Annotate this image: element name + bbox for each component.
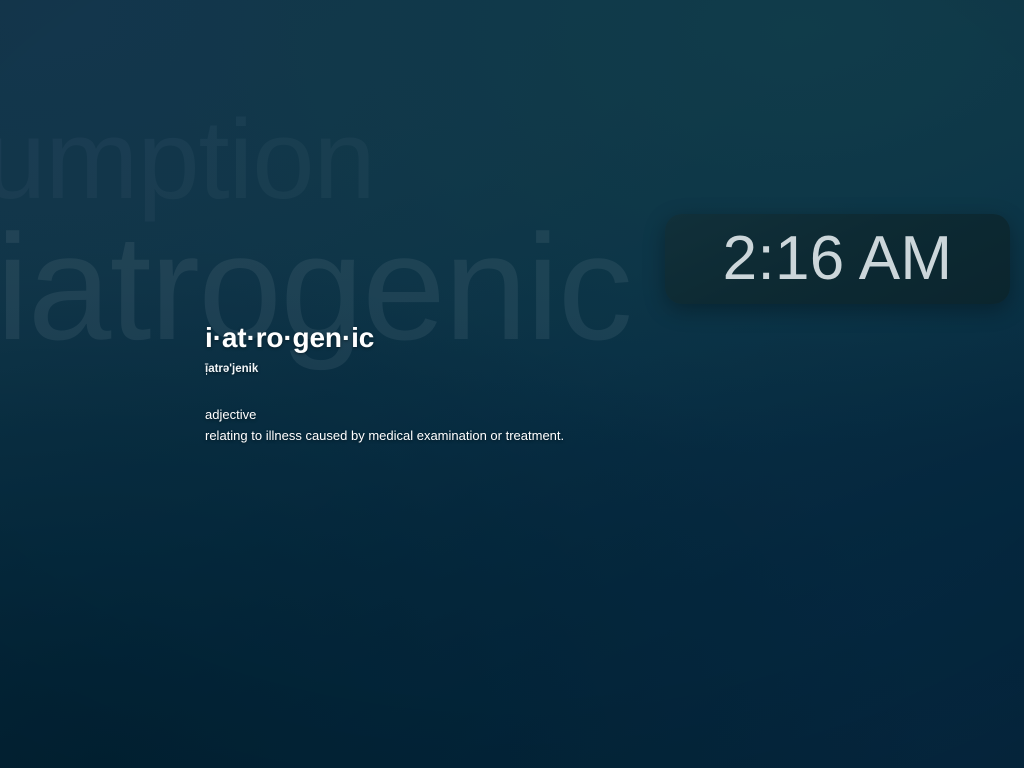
word-of-the-day-definition: relating to illness caused by medical ex… <box>205 427 825 446</box>
word-of-the-day-pronunciation: ī̩atrə'jenik <box>205 363 825 377</box>
word-of-the-day-part-of-speech: adjective <box>205 406 825 425</box>
word-of-the-day-headword: i·at·ro·gen·ic <box>205 322 825 354</box>
background-ghost-word-upper: umption <box>0 104 375 216</box>
clock-time-label: 2:16 AM <box>723 228 953 290</box>
word-of-the-day-widget[interactable]: i·at·ro·gen·ic ī̩atrə'jenik adjective re… <box>205 322 825 446</box>
desktop-wallpaper[interactable]: umption iatrogenic 2:16 AM i·at·ro·gen·i… <box>0 0 1024 768</box>
clock-widget[interactable]: 2:16 AM <box>665 214 1010 304</box>
